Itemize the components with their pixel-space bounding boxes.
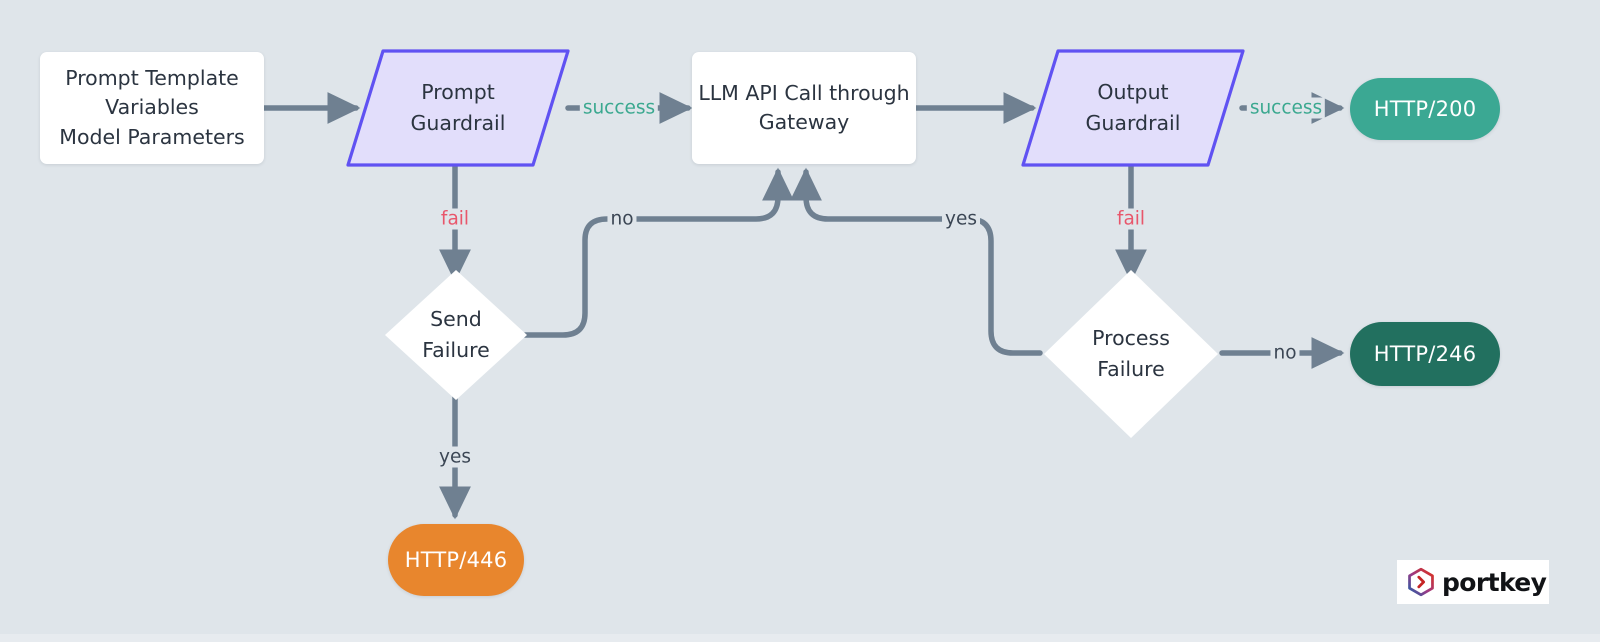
http-200-pill[interactable]: HTTP/200: [1350, 78, 1500, 140]
input-line-3: Model Parameters: [59, 123, 244, 152]
llm-line-2: Gateway: [759, 108, 850, 137]
http-446-label: HTTP/446: [405, 548, 508, 572]
process-failure-line-1: Process: [1092, 323, 1170, 354]
http-246-pill[interactable]: HTTP/246: [1350, 322, 1500, 386]
http-446-pill[interactable]: HTTP/446: [388, 524, 524, 596]
http-200-label: HTTP/200: [1374, 97, 1477, 121]
edge-label-send-failure-no: no: [607, 209, 636, 230]
llm-line-1: LLM API Call through: [698, 79, 909, 108]
output-guardrail-line-1: Output: [1097, 77, 1168, 108]
http-246-label: HTTP/246: [1374, 342, 1477, 366]
edge-send-failure-no: [525, 172, 778, 335]
bottom-strip: [0, 634, 1600, 642]
input-line-1: Prompt Template: [65, 64, 239, 93]
prompt-guardrail-line-1: Prompt: [421, 77, 495, 108]
prompt-guardrail[interactable]: Prompt Guardrail: [345, 48, 571, 168]
portkey-hexagon-chevron-icon: [1406, 567, 1436, 597]
edge-label-success-prompt: success: [580, 98, 658, 119]
portkey-wordmark: portkey: [1442, 568, 1546, 597]
edge-label-success-output: success: [1247, 98, 1325, 119]
llm-api-call[interactable]: LLM API Call through Gateway: [692, 52, 916, 164]
prompt-guardrail-line-2: Guardrail: [411, 108, 506, 139]
output-guardrail-label: Output Guardrail: [1020, 48, 1246, 168]
edge-label-process-failure-yes: yes: [942, 209, 980, 230]
send-failure-line-1: Send: [430, 304, 482, 335]
input-box[interactable]: Prompt Template Variables Model Paramete…: [40, 52, 264, 164]
flowchart-canvas: Prompt Template Variables Model Paramete…: [0, 0, 1600, 642]
process-failure-decision[interactable]: Process Failure: [1042, 268, 1220, 440]
edge-process-failure-yes: [806, 172, 1040, 353]
portkey-logo: portkey: [1397, 560, 1549, 604]
process-failure-line-2: Failure: [1097, 354, 1164, 385]
edge-label-fail-prompt: fail: [438, 209, 472, 230]
edge-label-process-failure-no: no: [1270, 343, 1299, 364]
process-failure-label: Process Failure: [1042, 268, 1220, 440]
input-line-2: Variables: [105, 93, 199, 122]
prompt-guardrail-label: Prompt Guardrail: [345, 48, 571, 168]
edge-label-fail-output: fail: [1114, 209, 1148, 230]
send-failure-line-2: Failure: [422, 335, 489, 366]
output-guardrail[interactable]: Output Guardrail: [1020, 48, 1246, 168]
send-failure-decision[interactable]: Send Failure: [383, 268, 529, 402]
output-guardrail-line-2: Guardrail: [1086, 108, 1181, 139]
edge-label-send-failure-yes: yes: [436, 447, 474, 468]
send-failure-label: Send Failure: [383, 268, 529, 402]
